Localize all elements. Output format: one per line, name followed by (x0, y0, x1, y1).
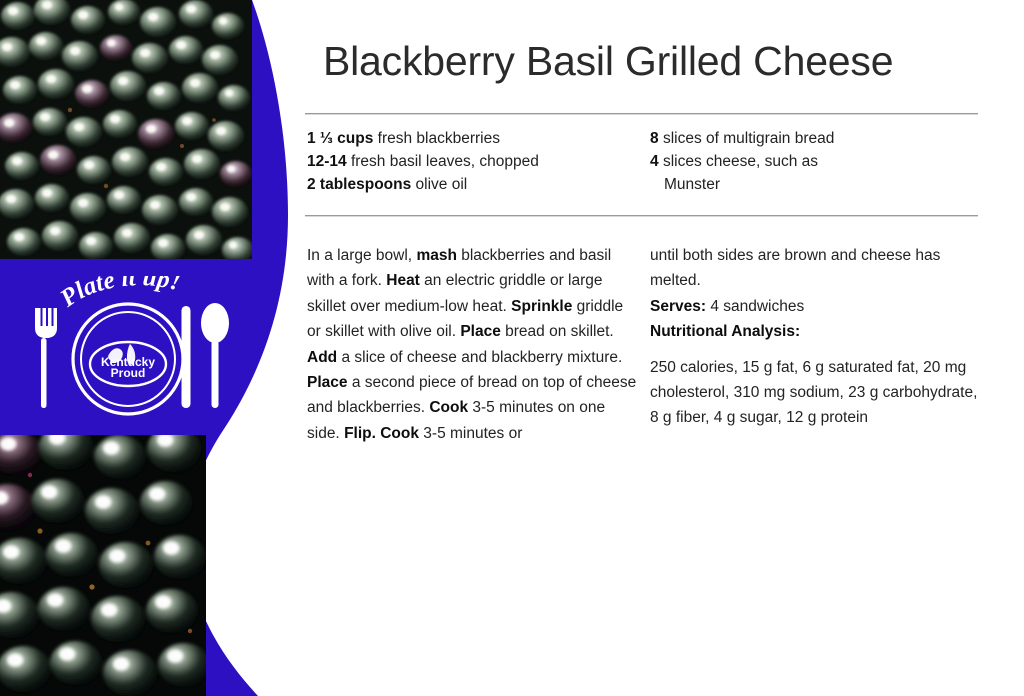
ingredient-amount: 12-14 (307, 153, 347, 170)
ingredients-left-column: 1 ⅓ cups fresh blackberries 12-14 fresh … (307, 127, 637, 196)
ingredient-item: 8 slices of multigrain bread (650, 127, 980, 150)
ingredient-amount: 2 tablespoons (307, 176, 411, 193)
instruction-verb: Cook (380, 425, 419, 442)
instructions-left-column: In a large bowl, mash blackberries and b… (307, 243, 637, 446)
ingredient-text: slices of multigrain bread (663, 130, 834, 147)
ingredients-right-column: 8 slices of multigrain bread 4 slices ch… (650, 127, 980, 196)
instruction-verb: Sprinkle (511, 298, 572, 315)
left-decorative-panel: Kentucky Proud Plate it up! (0, 0, 320, 696)
ingredient-amount: 1 ⅓ cups (307, 130, 373, 147)
ingredient-item: 4 slices cheese, such as (650, 150, 980, 173)
spoon-icon (201, 303, 229, 408)
plate-it-up-logo: Kentucky Proud Plate it up! (12, 276, 244, 424)
instruction-verb: mash (416, 247, 457, 264)
instructions-right-column: until both sides are brown and cheese ha… (650, 243, 980, 431)
divider-top (305, 113, 978, 115)
serves-value: 4 sandwiches (710, 298, 804, 315)
ingredient-text: fresh basil leaves, chopped (351, 153, 539, 170)
instruction-text: In a large bowl, (307, 247, 416, 264)
ingredient-item: 2 tablespoons olive oil (307, 173, 637, 196)
blackberries-bottom-photo (0, 435, 206, 696)
ingredient-item: 12-14 fresh basil leaves, chopped (307, 150, 637, 173)
instructions-continuation: until both sides are brown and cheese ha… (650, 243, 980, 294)
instruction-text: a slice of cheese and blackberry mixture… (337, 349, 622, 366)
instruction-text: 3-5 minutes or (419, 425, 522, 442)
ingredient-text: slices cheese, such as (663, 153, 818, 170)
nutrition-heading: Nutritional Analysis: (650, 323, 800, 340)
instruction-verb: Flip. (344, 425, 376, 442)
fork-icon (35, 308, 57, 408)
nutrition-text: 250 calories, 15 g fat, 6 g saturated fa… (650, 355, 980, 431)
divider-bottom (305, 215, 978, 217)
nutrition-heading-line: Nutritional Analysis: (650, 319, 980, 344)
ingredient-text: fresh blackberries (378, 130, 500, 147)
ingredient-item: 1 ⅓ cups fresh blackberries (307, 127, 637, 150)
instruction-verb: Cook (429, 399, 468, 416)
instruction-text: bread on skillet. (501, 323, 614, 340)
instruction-verb: Heat (386, 272, 420, 289)
instruction-verb: Place (460, 323, 501, 340)
berry-illustration-bottom (0, 435, 206, 696)
ingredient-text: olive oil (416, 176, 468, 193)
kentucky-proud-line2: Proud (111, 366, 146, 380)
berry-illustration-top (0, 0, 252, 259)
instructions-text: In a large bowl, mash blackberries and b… (307, 243, 637, 446)
instruction-verb: Place (307, 374, 348, 391)
ingredient-amount: 8 (650, 130, 659, 147)
serves-line: Serves: 4 sandwiches (650, 294, 980, 319)
plate-it-up-script: Plate it up! (55, 276, 184, 313)
instruction-verb: Add (307, 349, 337, 366)
kentucky-proud-mark: Kentucky Proud (90, 342, 166, 386)
blackberries-top-photo (0, 0, 252, 259)
serves-label: Serves: (650, 298, 706, 315)
ingredient-continuation: Munster (650, 173, 980, 196)
page-title: Blackberry Basil Grilled Cheese (323, 38, 893, 85)
ingredient-amount: 4 (650, 153, 659, 170)
recipe-content: Blackberry Basil Grilled Cheese 1 ⅓ cups… (305, 0, 1005, 696)
recipe-card: Kentucky Proud Plate it up! Blackberry B… (0, 0, 1024, 696)
